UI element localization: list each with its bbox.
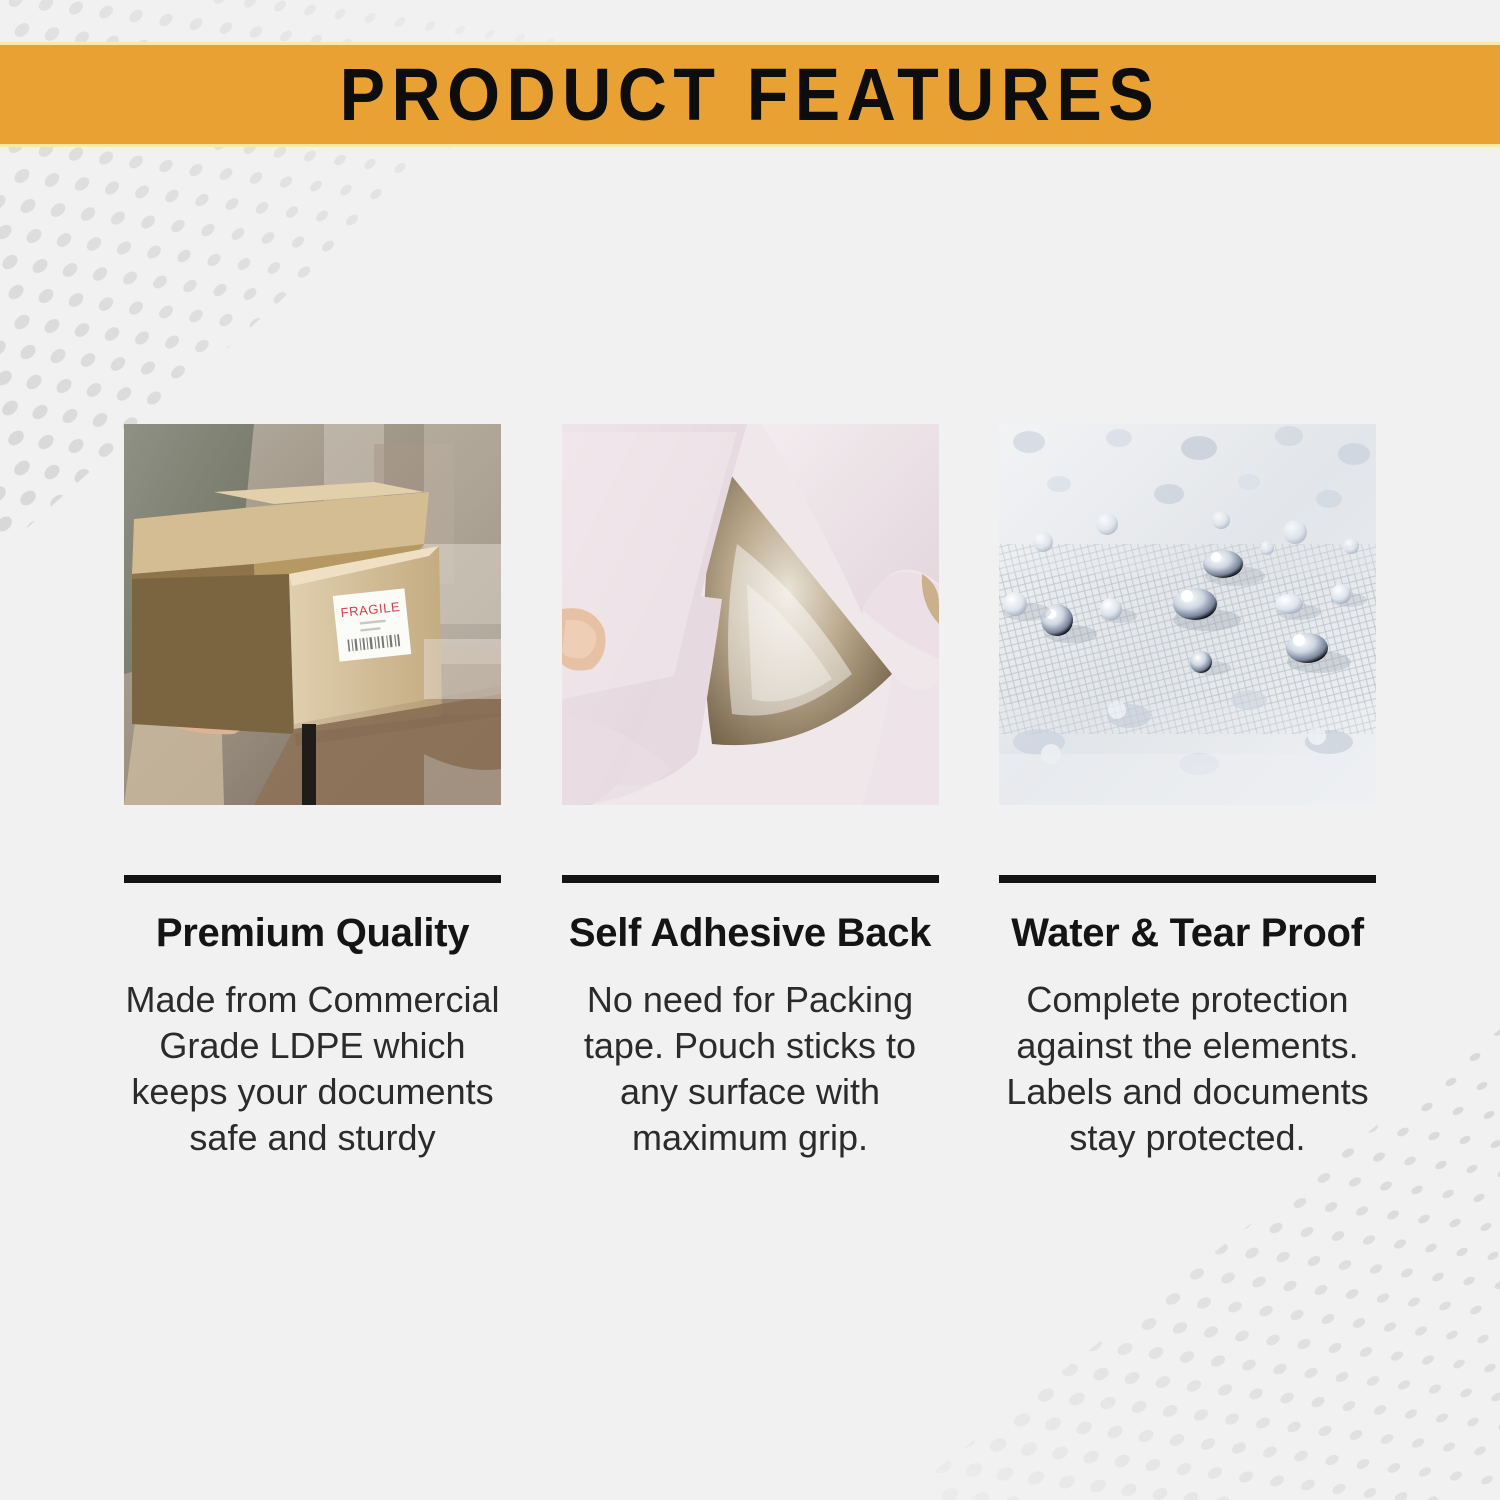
feature-body: Made from Commercial Grade LDPE which ke… [124,977,501,1161]
feature-heading: Premium Quality [124,911,501,955]
feature-heading: Water & Tear Proof [999,911,1376,955]
feature-column-self-adhesive-back: Self Adhesive Back No need for Packing t… [562,424,939,1161]
feature-body: No need for Packing tape. Pouch sticks t… [562,977,939,1161]
adhesive-peel-photo [562,424,939,805]
water-droplets-photo [999,424,1376,805]
page-title: PRODUCT FEATURES [340,58,1160,132]
column-divider-rule [999,875,1376,883]
shipping-boxes-photo: FRAGILE [124,424,501,805]
column-divider-rule [124,875,501,883]
product-features-infographic: PRODUCT FEATURES [0,0,1500,1500]
feature-column-water-tear-proof: Water & Tear Proof Complete protection a… [999,424,1376,1161]
feature-body: Complete protection against the elements… [999,977,1376,1161]
feature-column-premium-quality: FRAGILE [124,424,501,1161]
column-divider-rule [562,875,939,883]
feature-columns: FRAGILE [124,424,1376,1161]
feature-heading: Self Adhesive Back [562,911,939,955]
header-band: PRODUCT FEATURES [0,42,1500,147]
